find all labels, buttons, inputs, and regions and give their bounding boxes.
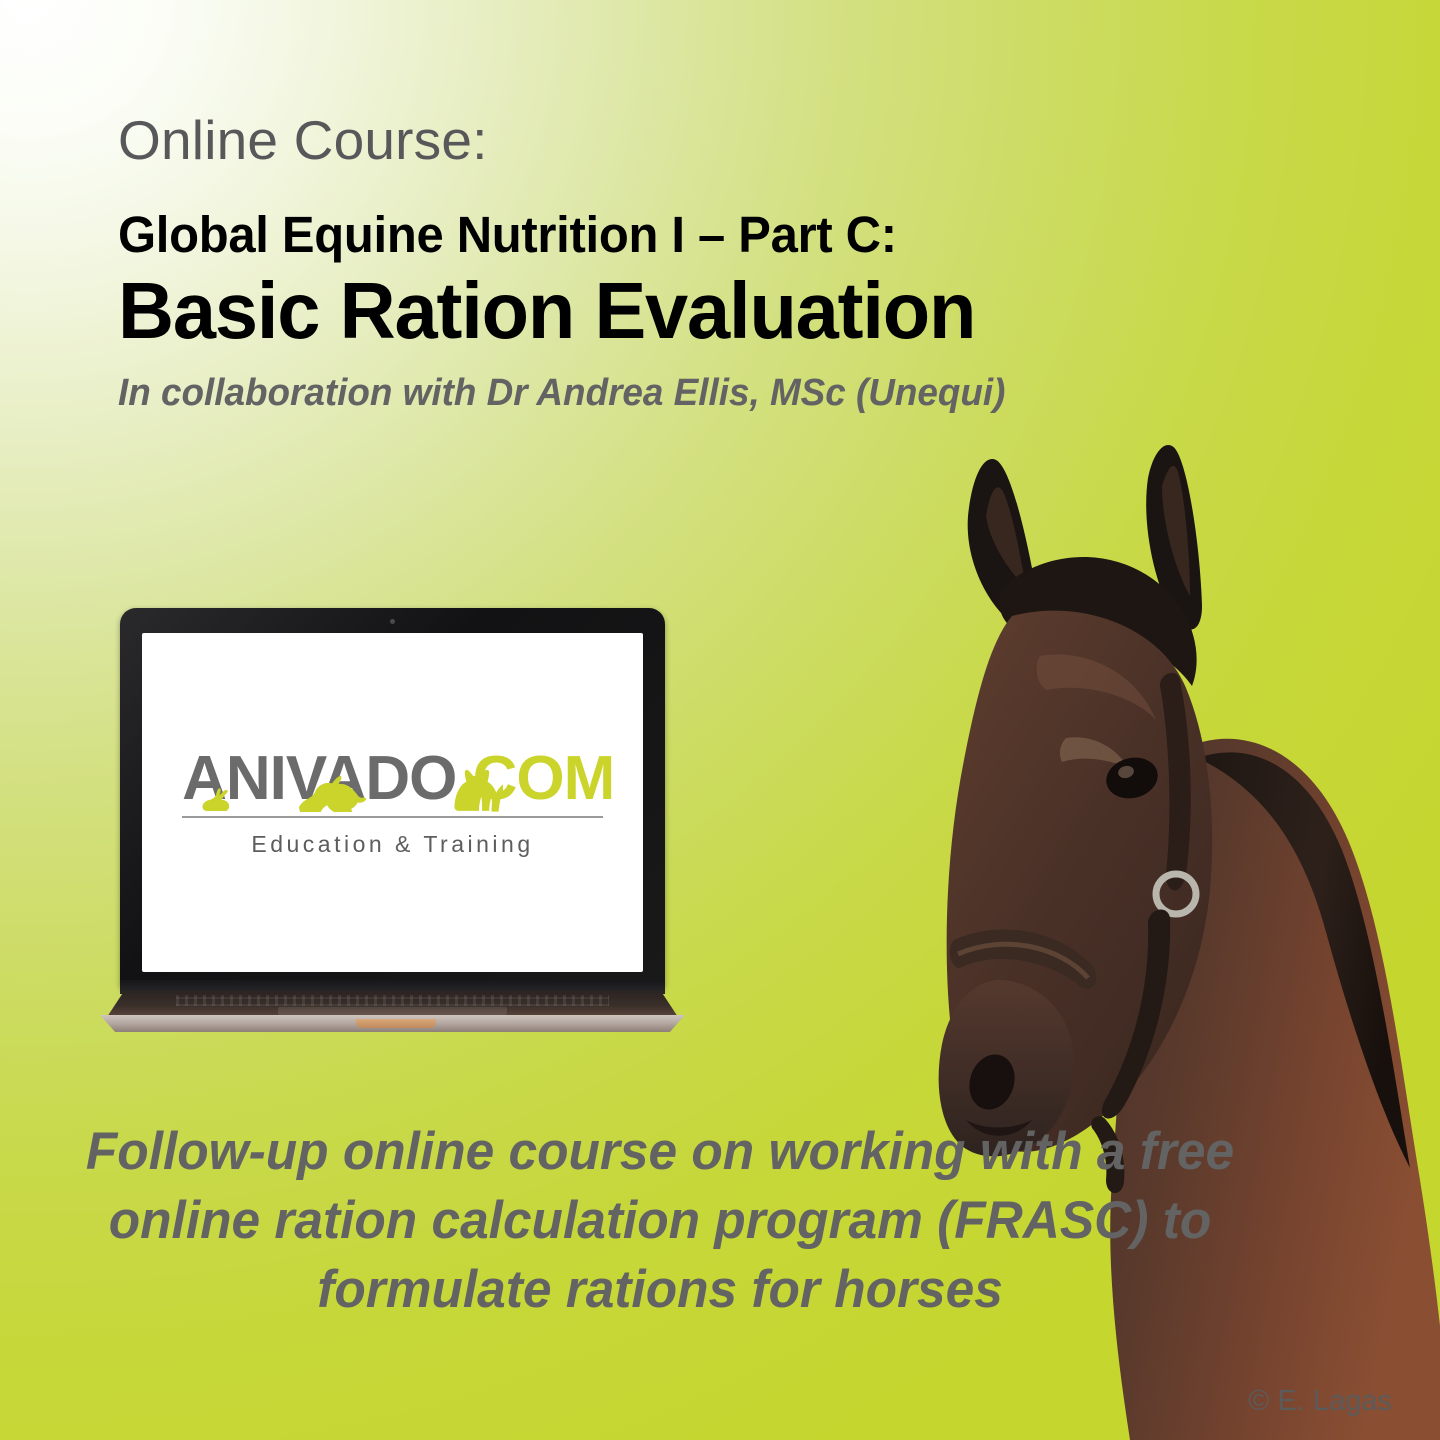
logo-word-aniva: ANIVA [182,744,365,813]
logo-word-com: .COM [456,744,614,813]
collaboration-line: In collaboration with Dr Andrea Ellis, M… [118,373,1107,415]
headline-block: Online Course: Global Equine Nutrition I… [118,112,1138,415]
caption-text: Follow-up online course on working with … [78,1118,1242,1325]
course-title-line2: Basic Ration Evaluation [118,271,1107,351]
laptop-lid: ANIVADO.COM [120,608,665,988]
kicker-label: Online Course: [118,112,1138,170]
poster-canvas: Online Course: Global Equine Nutrition I… [0,0,1440,1440]
trackpad [278,1007,506,1015]
laptop-keyboard-deck [107,991,678,1017]
logo-tagline: Education & Training [182,831,603,858]
laptop-front-notch [356,1019,436,1028]
webcam-icon [390,619,395,624]
logo-word-do: DO [365,744,456,813]
laptop-illustration: ANIVADO.COM [85,608,700,1033]
laptop-screen: ANIVADO.COM [142,633,643,972]
keyboard-keys [176,995,610,1006]
laptop-base [85,991,700,1033]
course-title-line1: Global Equine Nutrition I – Part C: [118,208,1097,262]
copyright-credit: © E. Lagas [1248,1385,1392,1418]
logo-divider [182,816,603,818]
logo-wordmark: ANIVADO.COM [182,748,603,810]
anivado-logo: ANIVADO.COM [182,748,603,858]
